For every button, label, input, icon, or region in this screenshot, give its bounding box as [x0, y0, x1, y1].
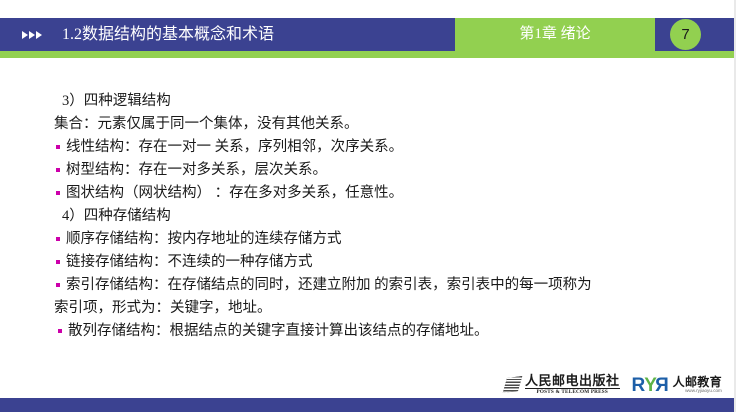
line-text: 顺序存储结构：按内存地址的连续存储方式: [66, 231, 342, 247]
square-bullet-icon: [56, 237, 60, 241]
ryjiaoyu-url: www.ryjiaoyu.com: [673, 389, 722, 394]
square-bullet-icon: [58, 329, 62, 333]
hash-storage-line: 散列存储结构：根据结点的关键字直接计算出该结点的存储地址。: [0, 320, 736, 343]
line-text: 集合：元素仅属于同一个集体，没有其他关系。: [54, 116, 359, 132]
ryjiaoyu-wordmark: 人邮教育 www.ryjiaoyu.com: [673, 376, 722, 394]
slide-body: 3）四种逻辑结构 集合：元素仅属于同一个集体，没有其他关系。 线性结构：存在一对…: [0, 90, 736, 343]
slide-bottom-bar: [0, 398, 736, 412]
heading-four-logical-structures: 3）四种逻辑结构: [0, 90, 736, 113]
square-bullet-icon: [56, 145, 60, 149]
linked-storage-line: 链接存储结构：不连续的一种存储方式: [0, 251, 736, 274]
line-text: 图状结构（网状结构） ：存在多对多关系，任意性。: [66, 185, 403, 201]
line-text: 3）四种逻辑结构: [62, 93, 171, 109]
linear-structure-line: 线性结构：存在一对一 关系，序列相邻，次序关系。: [0, 136, 736, 159]
square-bullet-icon: [56, 260, 60, 264]
square-bullet-icon: [56, 168, 60, 172]
chapter-label: 第1章 绪论: [455, 18, 655, 51]
square-bullet-icon: [56, 191, 60, 195]
ptpress-cn-name: 人民邮电出版社: [525, 374, 620, 389]
book-pages-icon: [504, 375, 521, 395]
square-bullet-icon: [56, 283, 60, 287]
indexed-storage-continuation-line: 索引项，形式为：关键字，地址。: [0, 297, 736, 320]
line-text: 树型结构：存在一对多关系，层次关系。: [66, 162, 327, 178]
section-title: 1.2数据结构的基本概念和术语: [62, 18, 274, 51]
ryr-monogram-icon: R Y R: [632, 376, 669, 395]
tree-structure-line: 树型结构：存在一对多关系，层次关系。: [0, 159, 736, 182]
ryjy-letter-y: Y: [644, 376, 656, 395]
graph-structure-line: 图状结构（网状结构） ：存在多对多关系，任意性。: [0, 182, 736, 205]
line-text: 链接存储结构：不连续的一种存储方式: [66, 254, 313, 270]
line-text: 散列存储结构：根据结点的关键字直接计算出该结点的存储地址。: [68, 323, 489, 339]
ptpress-en-name: POSTS & TELECOM PRESS: [525, 390, 620, 395]
ryjy-letter-r1: R: [632, 376, 645, 395]
footer-logos: 人民邮电出版社 POSTS & TELECOM PRESS R Y R 人邮教育…: [504, 372, 722, 398]
indexed-storage-line: 索引存储结构：在存储结点的同时，还建立附加 的索引表，索引表中的每一项称为: [0, 274, 736, 297]
heading-four-storage-structures: 4）四种存储结构: [0, 205, 736, 228]
ryjy-letter-r2: R: [656, 376, 669, 395]
posts-telecom-press-logo: 人民邮电出版社 POSTS & TELECOM PRESS: [504, 374, 620, 395]
line-text: 4）四种存储结构: [62, 208, 171, 224]
page-number-badge: 7: [670, 19, 701, 50]
ptpress-wordmark: 人民邮电出版社 POSTS & TELECOM PRESS: [525, 374, 620, 395]
set-definition-line: 集合：元素仅属于同一个集体，没有其他关系。: [0, 113, 736, 136]
header-green-rule: [0, 51, 736, 58]
slide-canvas: 1.2数据结构的基本概念和术语 第1章 绪论 7 3）四种逻辑结构 集合：元素仅…: [0, 0, 736, 412]
sequential-storage-line: 顺序存储结构：按内存地址的连续存储方式: [0, 228, 736, 251]
ryjiaoyu-logo: R Y R 人邮教育 www.ryjiaoyu.com: [632, 376, 722, 395]
line-text: 线性结构：存在一对一 关系，序列相邻，次序关系。: [66, 139, 403, 155]
triple-right-arrow-icon: [22, 18, 42, 51]
line-text: 索引存储结构：在存储结点的同时，还建立附加 的索引表，索引表中的每一项称为: [66, 277, 592, 293]
ryjiaoyu-cn-name: 人邮教育: [673, 376, 722, 388]
slide-header: 1.2数据结构的基本概念和术语 第1章 绪论: [0, 18, 736, 51]
line-text: 索引项，形式为：关键字，地址。: [54, 300, 272, 316]
